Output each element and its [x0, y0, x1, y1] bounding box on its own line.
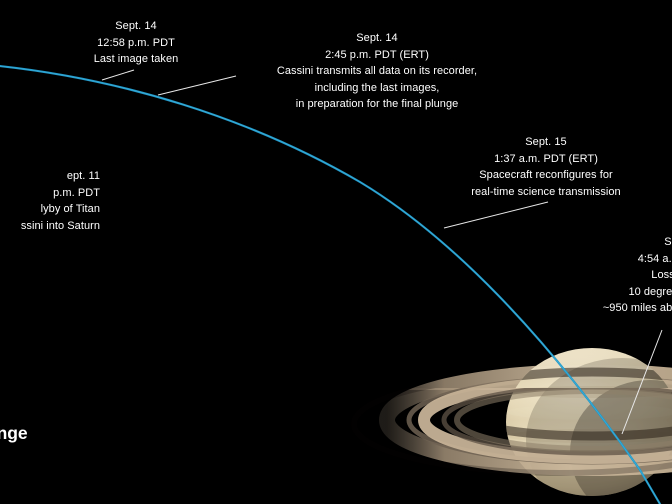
- annotation-line: ~950 miles abov: [502, 300, 672, 317]
- graphic-title: nal Plunge: [0, 423, 27, 444]
- annotation-line: 12:58 p.m. PDT: [63, 35, 209, 52]
- annotation-line: Sept. 14: [234, 30, 520, 47]
- leader-line-data-transmit: [158, 76, 236, 95]
- annotation-line: including the last images,: [234, 80, 520, 97]
- annotation-last-image: Sept. 14 12:58 p.m. PDT Last image taken: [63, 18, 209, 68]
- annotation-line: p.m. PDT: [0, 185, 100, 202]
- annotation-line: Sept. 15: [438, 134, 654, 151]
- annotation-loss-of-signal: Sep 4:54 a.m. Loss o 10 degrees ~950 mil…: [502, 234, 672, 317]
- annotation-reconfigure: Sept. 15 1:37 a.m. PDT (ERT) Spacecraft …: [438, 134, 654, 200]
- leader-line-loss-of-signal: [622, 330, 662, 434]
- annotation-line: Cassini transmits all data on its record…: [234, 63, 520, 80]
- leader-line-last-image: [102, 70, 134, 80]
- annotation-line: Sept. 14: [63, 18, 209, 35]
- annotation-line: Sep: [502, 234, 672, 251]
- annotation-line: 4:54 a.m.: [502, 251, 672, 268]
- cassini-final-plunge-graphic: ept. 11 p.m. PDT lyby of Titan ssini int…: [0, 0, 672, 504]
- annotation-line: 1:37 a.m. PDT (ERT): [438, 151, 654, 168]
- annotation-line: in preparation for the final plunge: [234, 96, 520, 113]
- annotation-line: real-time science transmission: [438, 184, 654, 201]
- annotation-line: 2:45 p.m. PDT (ERT): [234, 47, 520, 64]
- annotation-line: 10 degrees: [502, 284, 672, 301]
- title-block: nal Plunge t to change: [0, 423, 27, 457]
- annotation-line: Loss o: [502, 267, 672, 284]
- annotation-line: Spacecraft reconfigures for: [438, 167, 654, 184]
- annotation-data-transmit: Sept. 14 2:45 p.m. PDT (ERT) Cassini tra…: [234, 30, 520, 113]
- annotation-titan-flyby: ept. 11 p.m. PDT lyby of Titan ssini int…: [0, 168, 100, 234]
- annotation-line: Last image taken: [63, 51, 209, 68]
- leader-line-reconfigure: [444, 202, 548, 228]
- annotation-line: ssini into Saturn: [0, 218, 100, 235]
- graphic-subtitle: t to change: [0, 448, 27, 457]
- annotation-line: ept. 11: [0, 168, 100, 185]
- annotation-line: lyby of Titan: [0, 201, 100, 218]
